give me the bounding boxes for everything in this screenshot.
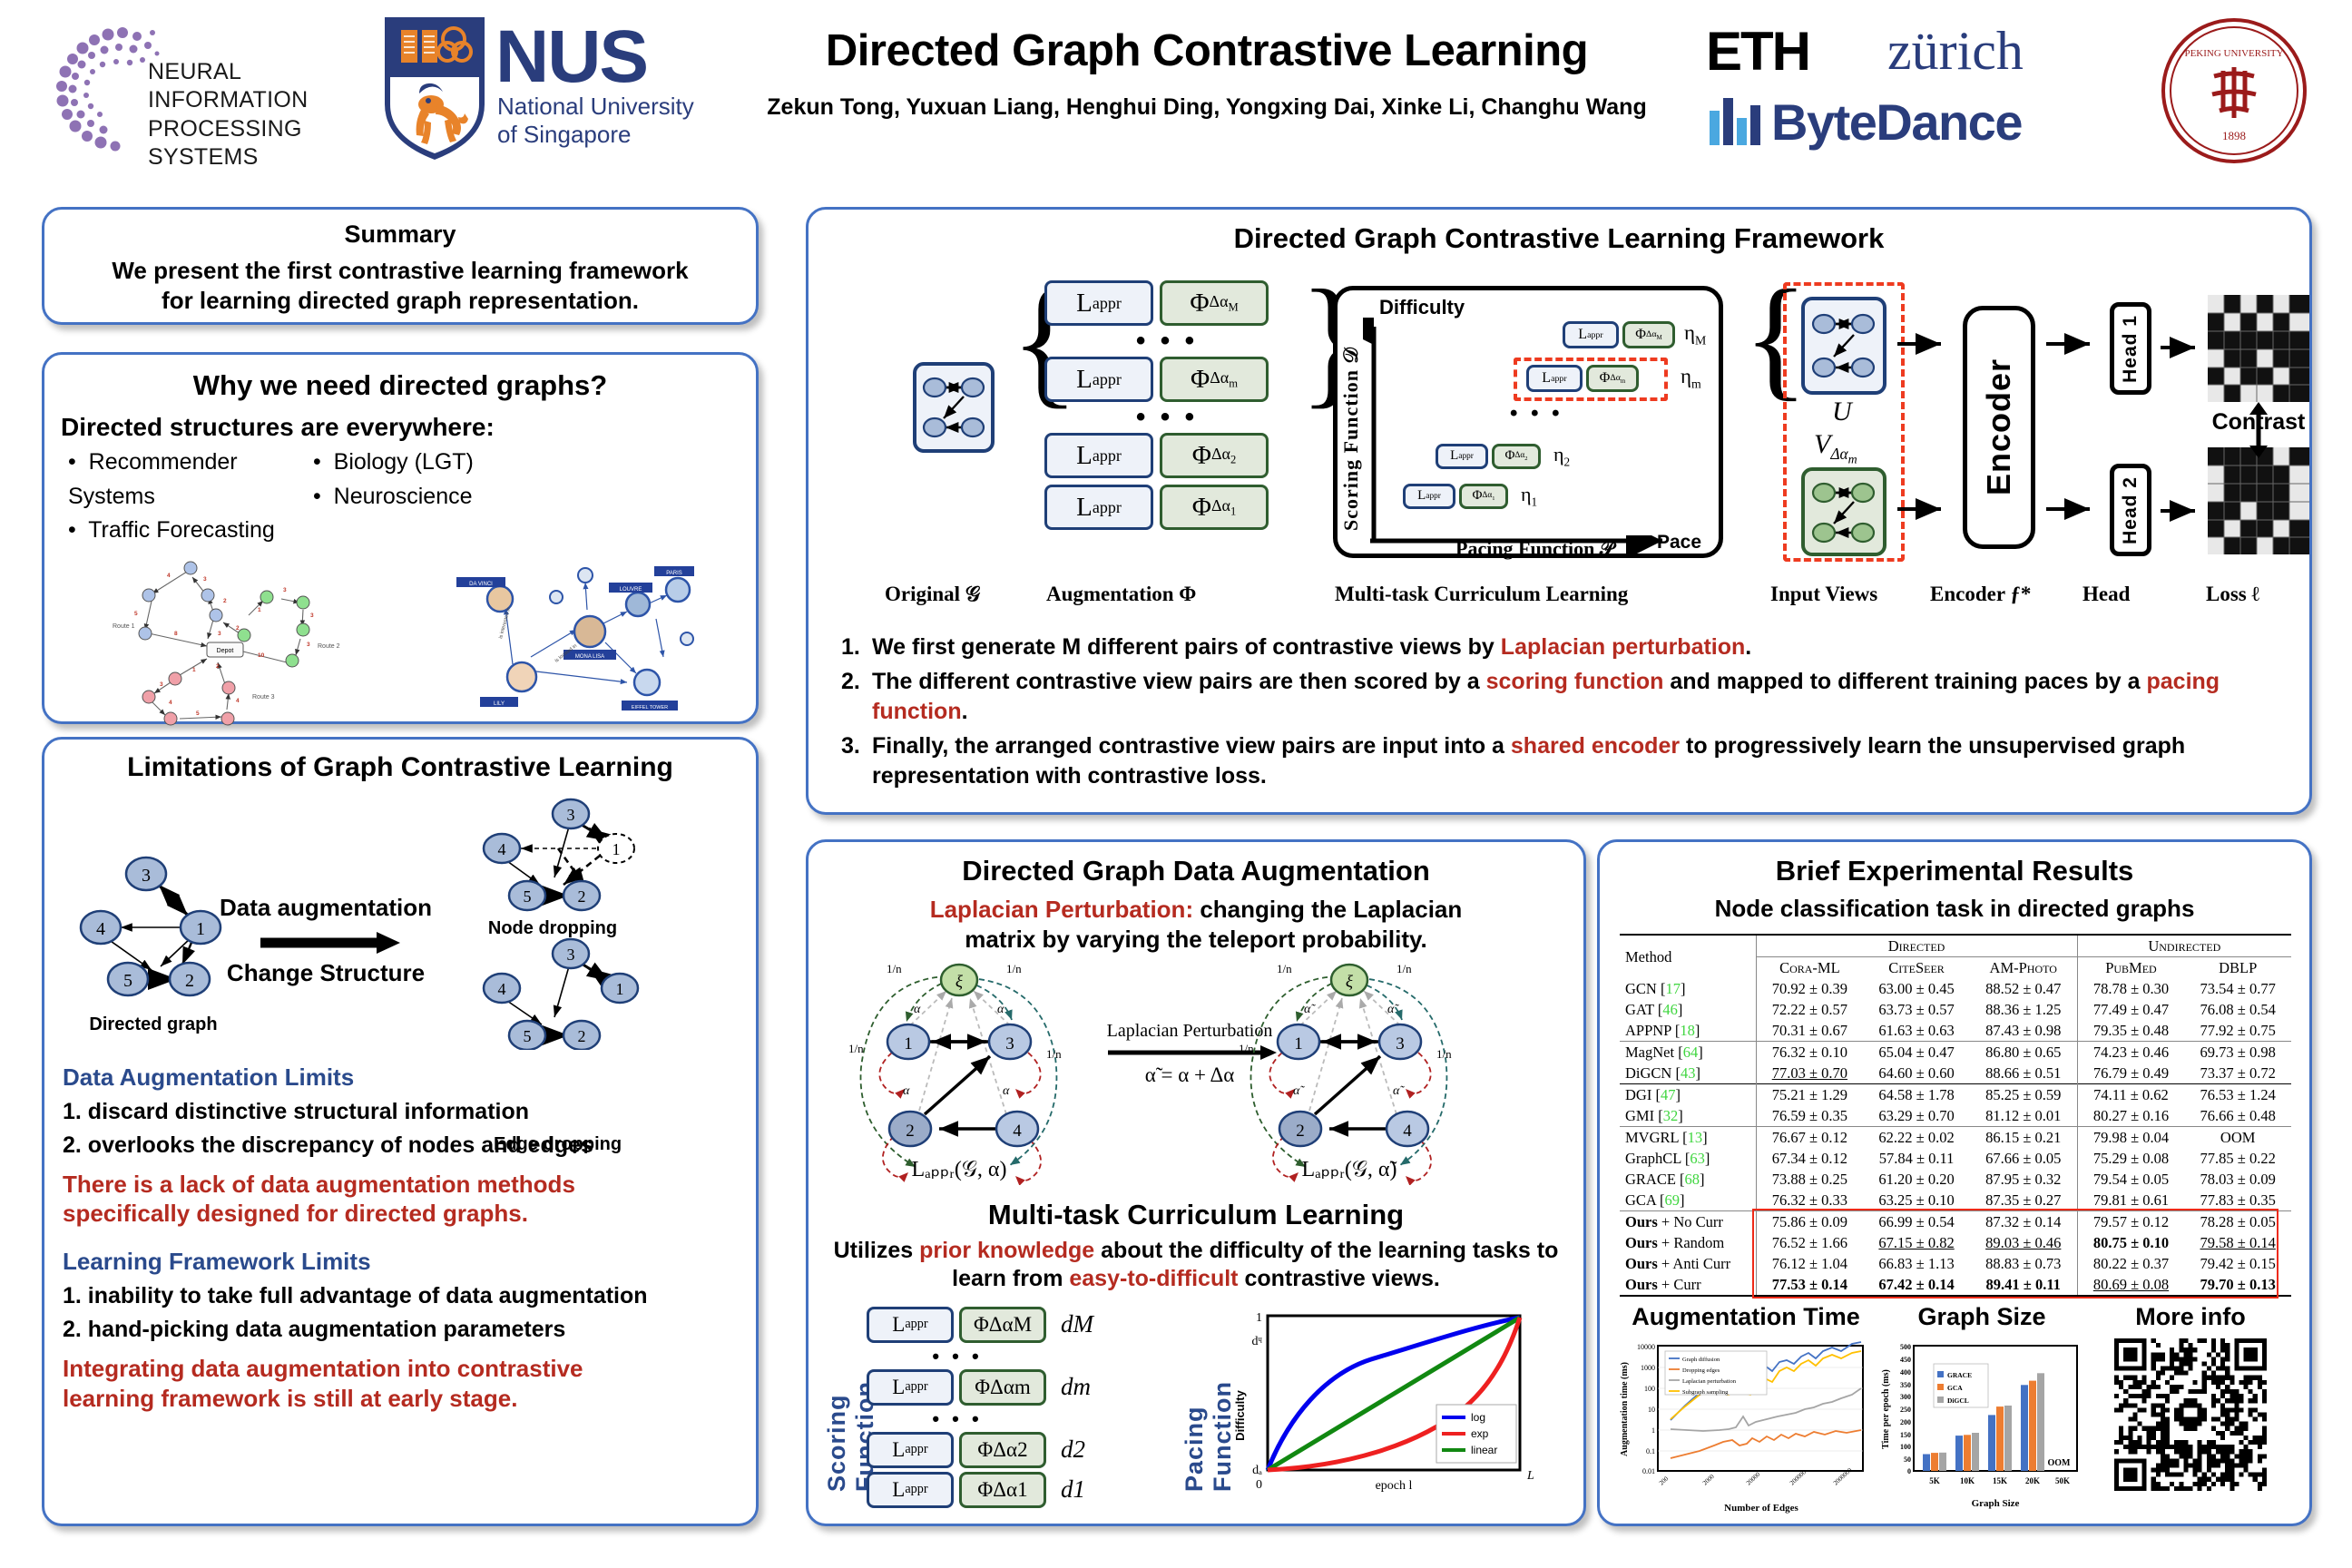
- pacing-ylabel: Difficulty: [1233, 1389, 1247, 1440]
- cell-value: 80.22 ± 0.37: [2077, 1253, 2184, 1274]
- legend-item: Dropping edges: [1682, 1367, 1720, 1374]
- step-number: 1.: [841, 632, 872, 663]
- why-figures: Depot Route 1 Route 2: [44, 555, 756, 757]
- col-header-method: Method: [1620, 935, 1756, 978]
- svg-text:3: 3: [1396, 1034, 1405, 1053]
- laplacian-box: Lappr: [867, 1369, 954, 1406]
- laplacian-box: Lappr: [1403, 484, 1455, 509]
- augmentation-time-chart: 100001000100 1010.1 0.01: [1614, 1338, 1877, 1515]
- svg-text:200: 200: [1900, 1418, 1911, 1426]
- scoring-row: LapprΦΔαmdm: [867, 1369, 1093, 1406]
- phi-box: ΦΔα1: [1459, 484, 1508, 509]
- x-tick: 2000: [1701, 1473, 1716, 1487]
- why-col-left: • Recommender Systems • Traffic Forecast…: [68, 446, 313, 548]
- data-aug-limits-conclusion: There is a lack of data augmentation met…: [63, 1170, 756, 1228]
- svg-text:3: 3: [310, 612, 314, 619]
- cell-value: 73.54 ± 0.77: [2184, 978, 2291, 999]
- list-item: • Biology (LGT): [313, 446, 558, 480]
- step-text: We first generate M different pairs of c…: [872, 632, 1751, 663]
- pku-logo-icon: PEKING UNIVERSITY 1898: [2160, 16, 2309, 166]
- results-table: MethodDirectedUndirectedCora-MLCiteSeerA…: [1620, 934, 2291, 1299]
- laplacian-box: Lappr: [1044, 433, 1153, 478]
- cell-value: 67.15 ± 0.82: [1863, 1232, 1970, 1253]
- table-row: APPNP [18]70.31 ± 0.6761.63 ± 0.6387.43 …: [1620, 1020, 2291, 1042]
- step-number: 2.: [841, 667, 872, 728]
- svg-text:1/n: 1/n: [1046, 1047, 1062, 1061]
- cell-value: 63.25 ± 0.10: [1863, 1190, 1970, 1211]
- x-tick: 50K: [2055, 1476, 2070, 1485]
- svg-text:3: 3: [567, 806, 575, 824]
- panel-limitations: Limitations of Graph Contrastive Learnin…: [42, 737, 759, 1526]
- scoring-row: LapprΦΔα2d2: [867, 1432, 1093, 1468]
- charts-bodies: 100001000100 1010.1 0.01: [1614, 1338, 2300, 1515]
- cell-value: 65.04 ± 0.47: [1863, 1042, 1970, 1063]
- cell-method: GAT [46]: [1620, 999, 1756, 1020]
- panel-framework: Directed Graph Contrastive Learning Fram…: [806, 207, 2312, 815]
- cell-value: 67.66 ± 0.05: [1970, 1148, 2077, 1169]
- col-header: AM-Photo: [1970, 957, 2077, 979]
- cell-value: 64.58 ± 1.78: [1863, 1084, 1970, 1106]
- cell-value: 78.78 ± 0.30: [2077, 978, 2184, 999]
- svg-text:1/n: 1/n: [848, 1042, 864, 1055]
- phi-box: ΦΔαm: [959, 1369, 1046, 1406]
- view-v-graph-icon: [1805, 471, 1883, 554]
- loss-matrix-2: [2208, 447, 2309, 554]
- x-tick: 20000: [1745, 1470, 1762, 1486]
- svg-text:0.1: 0.1: [1646, 1447, 1655, 1455]
- ellipsis: • • •: [1044, 402, 1289, 433]
- svg-text:0.01: 0.01: [1642, 1467, 1655, 1475]
- charts-titles: Augmentation Time Graph Size More info: [1614, 1303, 2300, 1331]
- results-title: Brief Experimental Results: [1600, 855, 2309, 887]
- encoder-label: Encoder: [1980, 358, 2018, 495]
- table-row: GCN [17]70.92 ± 0.3963.00 ± 0.4588.52 ± …: [1620, 978, 2291, 999]
- cell-value: 73.37 ± 0.72: [2184, 1063, 2291, 1084]
- neurips-line1: NEURAL INFORMATION: [148, 58, 349, 115]
- cell-value: 67.42 ± 0.14: [1863, 1274, 1970, 1296]
- table-row: DGI [47]75.21 ± 1.2964.58 ± 1.7885.25 ± …: [1620, 1084, 2291, 1106]
- ellipsis: • • •: [867, 1407, 1048, 1431]
- scoring-function-axis-label: Scoring Function 𝒟: [1339, 347, 1363, 531]
- cell-method: MagNet [64]: [1620, 1042, 1756, 1063]
- phi-box: ΦΔα1: [1160, 485, 1269, 530]
- cell-value: 80.27 ± 0.16: [2077, 1105, 2184, 1127]
- why-col-right: • Biology (LGT) • Neuroscience: [313, 446, 558, 548]
- svg-text:1/n: 1/n: [1006, 962, 1022, 975]
- cell-value: 79.81 ± 0.61: [2077, 1190, 2184, 1211]
- cell-value: 78.03 ± 0.09: [2184, 1169, 2291, 1190]
- difficulty-score: d2: [1061, 1436, 1085, 1464]
- scoring-row: LapprΦΔαMdM: [867, 1307, 1093, 1343]
- framework-step: 1.We first generate M different pairs of…: [841, 632, 2284, 663]
- difficulty-axis-label: Difficulty: [1379, 296, 1465, 319]
- svg-text:3: 3: [1005, 1034, 1014, 1053]
- perturbation-formula: α̃ = α + Δα: [1145, 1063, 1235, 1086]
- cell-value: 87.95 ± 0.32: [1970, 1169, 2077, 1190]
- svg-text:L: L: [1526, 1469, 1534, 1483]
- laplacian-box: Lappr: [867, 1432, 954, 1468]
- cell-value: 87.32 ± 0.14: [1970, 1211, 2077, 1233]
- eta-label: ηM: [1684, 321, 1706, 348]
- author-list: Zekun Tong, Yuxuan Liang, Henghui Ding, …: [717, 94, 1697, 121]
- caption-input-views: Input Views: [1770, 583, 1877, 606]
- why-subtitle: Directed structures are everywhere:: [61, 413, 756, 442]
- step-number: 3.: [841, 731, 872, 792]
- graph-size-ylabel: Time per epoch (ms): [1881, 1369, 1891, 1449]
- eta-label: ηm: [1681, 365, 1701, 392]
- svg-text:2: 2: [578, 887, 586, 906]
- cell-value: 86.15 ± 0.21: [1970, 1127, 2077, 1149]
- nus-wordmark: NUS: [495, 15, 647, 100]
- cell-value: 77.85 ± 0.22: [2184, 1148, 2291, 1169]
- aug-row-1: Lappr ΦΔα1: [1044, 485, 1289, 530]
- bytedance-logo-icon: [1708, 94, 1764, 147]
- svg-text:4: 4: [498, 980, 506, 998]
- mtcl-box: Difficulty Scoring Function 𝒟 Pacing Fun…: [1333, 286, 1723, 558]
- neurips-logo: NEURAL INFORMATION PROCESSING SYSTEMS: [50, 20, 349, 156]
- table-row: GCA [69]76.32 ± 0.3363.25 ± 0.1087.35 ± …: [1620, 1190, 2291, 1211]
- svg-text:500: 500: [1900, 1343, 1911, 1351]
- list-item: • Recommender Systems: [68, 446, 313, 514]
- col-header: PubMed: [2077, 957, 2184, 979]
- cell-value: OOM: [2184, 1127, 2291, 1149]
- cell-value: 70.92 ± 0.39: [1756, 978, 1863, 999]
- svg-text:1: 1: [258, 607, 261, 613]
- aug-row-m: Lappr ΦΔαm: [1044, 357, 1289, 402]
- table-row: Ours + No Curr75.86 ± 0.0966.99 ± 0.5487…: [1620, 1211, 2291, 1233]
- scoring-row: LapprΦΔα1d1: [867, 1472, 1093, 1508]
- legend-item: Subgraph sampling: [1682, 1389, 1729, 1396]
- nus-sub-line2: of Singapore: [497, 121, 694, 149]
- cell-value: 77.83 ± 0.35: [2184, 1190, 2291, 1211]
- table-row: MVGRL [13]76.67 ± 0.1262.22 ± 0.0286.15 …: [1620, 1127, 2291, 1149]
- phi-box: ΦΔαm: [1586, 365, 1639, 392]
- pace-axis-label: Pace: [1657, 532, 1701, 554]
- cell-value: 88.52 ± 0.47: [1970, 978, 2077, 999]
- x-tick: 10K: [1960, 1476, 1975, 1485]
- why-title: Why we need directed graphs?: [44, 369, 756, 402]
- table-row: MagNet [64]76.32 ± 0.1065.04 ± 0.4786.80…: [1620, 1042, 2291, 1063]
- caption-original: Original 𝒢: [885, 583, 980, 606]
- panel-summary: Summary We present the first contrastive…: [42, 207, 759, 325]
- results-charts: Augmentation Time Graph Size More info 1…: [1614, 1303, 2300, 1521]
- summary-title: Summary: [44, 220, 756, 249]
- cell-value: 63.29 ± 0.70: [1863, 1105, 1970, 1127]
- cell-value: 74.11 ± 0.62: [2077, 1084, 2184, 1106]
- pacing-xlabel: epoch l: [1376, 1479, 1413, 1493]
- x-tick: 20K: [2025, 1476, 2040, 1485]
- svg-text:10: 10: [258, 652, 265, 659]
- svg-text:4: 4: [236, 698, 240, 704]
- perturbation-arrow-label: Laplacian Perturbation: [1107, 1021, 1273, 1041]
- svg-text:exp: exp: [1471, 1427, 1489, 1440]
- svg-text:1: 1: [612, 840, 621, 858]
- svg-text:1: 1: [196, 919, 205, 939]
- cell-value: 76.66 ± 0.48: [2184, 1105, 2291, 1127]
- legend-item: GCA: [1947, 1384, 1963, 1392]
- cell-value: 79.58 ± 0.14: [2184, 1232, 2291, 1253]
- highlight-term: shared encoder: [1511, 733, 1680, 759]
- svg-text:3: 3: [218, 631, 221, 637]
- group-header: Undirected: [2077, 935, 2291, 957]
- laplacian-box: Lappr: [867, 1472, 954, 1508]
- phi-box: ΦΔα2: [1160, 433, 1269, 478]
- cell-value: 88.83 ± 0.73: [1970, 1253, 2077, 1274]
- cell-value: 89.03 ± 0.46: [1970, 1232, 2077, 1253]
- svg-text:α: α: [914, 1003, 921, 1016]
- cell-value: 80.69 ± 0.08: [2077, 1274, 2184, 1296]
- cell-value: 79.35 ± 0.48: [2077, 1020, 2184, 1042]
- table-row: Ours + Random76.52 ± 1.6667.15 ± 0.8289.…: [1620, 1232, 2291, 1253]
- node-dropping-caption: Node dropping: [488, 918, 617, 938]
- cell-value: 64.60 ± 0.60: [1863, 1063, 1970, 1084]
- qr-code-wrap[interactable]: [2086, 1338, 2295, 1515]
- svg-text:dₐ: dₐ: [1252, 1464, 1262, 1477]
- scoring-pacing-row: Scoring Function LapprΦΔαMdM• • •LapprΦΔ…: [808, 1303, 1583, 1498]
- graph-size-xlabel: Graph Size: [1972, 1498, 2020, 1509]
- cell-method: GraphCL [63]: [1620, 1148, 1756, 1169]
- oom-annotation: OOM: [2048, 1458, 2072, 1468]
- cell-value: 76.08 ± 0.54: [2184, 999, 2291, 1020]
- pacing-function-axis-label: Pacing Function 𝒫: [1455, 537, 1614, 561]
- summary-line2: for learning directed graph representati…: [44, 286, 756, 316]
- chart-title-graph-size: Graph Size: [1877, 1303, 2086, 1331]
- cell-value: 77.49 ± 0.47: [2077, 999, 2184, 1020]
- kg-node-label: LOUVRE: [619, 587, 642, 593]
- table-row: Ours + Curr77.53 ± 0.1467.42 ± 0.1489.41…: [1620, 1274, 2291, 1296]
- laplacian-box: Lappr: [1044, 357, 1153, 402]
- chart-title-augmentation-time: Augmentation Time: [1614, 1303, 1877, 1331]
- ellipsis: • • •: [1044, 326, 1289, 357]
- cell-value: 79.98 ± 0.04: [2077, 1127, 2184, 1149]
- cell-method: Ours + No Curr: [1620, 1211, 1756, 1233]
- difficulty-score: dM: [1061, 1310, 1093, 1338]
- view-u-graph-icon: [1805, 300, 1883, 391]
- cell-method: GCN [17]: [1620, 978, 1756, 999]
- cell-value: 72.22 ± 0.57: [1756, 999, 1863, 1020]
- cell-value: 76.67 ± 0.12: [1756, 1127, 1863, 1149]
- svg-text:4: 4: [169, 700, 172, 706]
- col-header: DBLP: [2184, 957, 2291, 979]
- xi-node: ξ: [955, 973, 964, 992]
- head-1-box: Head 1: [2110, 302, 2151, 395]
- limitations-diagram: 3 1 4 5 2 Directed graph Data augmentati…: [44, 787, 743, 1050]
- phi-box: ΦΔα2: [959, 1432, 1046, 1468]
- step-text: Finally, the arranged contrastive view p…: [872, 731, 2284, 792]
- svg-text:50: 50: [1904, 1455, 1911, 1464]
- head-2-box: Head 2: [2110, 464, 2151, 556]
- highlight-term: easy-to-difficult: [1069, 1266, 1238, 1291]
- svg-text:3: 3: [203, 576, 207, 583]
- cell-value: 78.28 ± 0.05: [2184, 1211, 2291, 1233]
- laplacian-box: Lappr: [1436, 444, 1488, 469]
- view-u-box: [1801, 297, 1886, 395]
- cell-value: 79.42 ± 0.15: [2184, 1253, 2291, 1274]
- eth-bytedance-logo: ETH zürich ByteDance: [1706, 20, 2123, 165]
- cell-value: 77.53 ± 0.14: [1756, 1274, 1863, 1296]
- cell-value: 76.32 ± 0.10: [1756, 1042, 1863, 1063]
- cell-value: 88.66 ± 0.51: [1970, 1063, 2077, 1084]
- svg-text:2: 2: [578, 1027, 586, 1045]
- svg-text:250: 250: [1900, 1406, 1911, 1414]
- cell-value: 76.12 ± 1.04: [1756, 1253, 1863, 1274]
- list-item: 1. inability to take full advantage of d…: [63, 1283, 756, 1309]
- x-tick: 200: [1658, 1475, 1671, 1486]
- summary-body: We present the first contrastive learnin…: [44, 256, 756, 317]
- phi-box: ΦΔαM: [1622, 321, 1675, 348]
- scoring-rows: LapprΦΔαMdM• • •LapprΦΔαmdm• • •LapprΦΔα…: [867, 1307, 1093, 1510]
- svg-text:4: 4: [96, 919, 105, 939]
- cell-value: 66.99 ± 0.54: [1863, 1211, 1970, 1233]
- svg-text:350: 350: [1900, 1381, 1911, 1389]
- aug-row-M: Lappr ΦΔαM: [1044, 280, 1289, 326]
- mtcl-row-1: Lappr ΦΔα1 η1: [1403, 483, 1537, 509]
- augmentation-lead: Laplacian Perturbation: changing the Lap…: [808, 895, 1583, 955]
- laplacian-box: Lappr: [1044, 485, 1153, 530]
- group-header: Directed: [1756, 935, 2077, 957]
- cell-value: 66.83 ± 1.13: [1863, 1253, 1970, 1274]
- svg-text:1: 1: [904, 1034, 913, 1053]
- list-item: • Traffic Forecasting: [68, 514, 313, 548]
- left-caption: Lₐₚₚᵣ(𝒢, α): [912, 1158, 1007, 1181]
- cell-value: 69.73 ± 0.98: [2184, 1042, 2291, 1063]
- arrows-to-encoder: [1894, 324, 1957, 542]
- eth-wordmark: ETH: [1706, 20, 1809, 83]
- eth-zurich-text: zürich: [1887, 20, 2024, 83]
- svg-text:α: α: [1003, 1084, 1010, 1098]
- page-title: Directed Graph Contrastive Learning: [717, 25, 1697, 76]
- phi-box: ΦΔαM: [1160, 280, 1269, 326]
- qr-code-icon[interactable]: [2114, 1338, 2267, 1491]
- arrow-label-top: Data augmentation: [220, 894, 432, 921]
- nus-shield-icon: [381, 14, 488, 163]
- svg-text:100: 100: [1644, 1385, 1655, 1393]
- summary-line1: We present the first contrastive learnin…: [44, 256, 756, 286]
- laplacian-box: Lappr: [1526, 365, 1583, 392]
- svg-text:5: 5: [524, 1027, 532, 1045]
- aug-time-xlabel: Number of Edges: [1724, 1503, 1798, 1514]
- arrow-label-bottom: Change Structure: [227, 959, 425, 986]
- svg-text:1: 1: [616, 980, 624, 998]
- kg-node-label: LILY: [494, 701, 505, 707]
- caption-mtcl: Multi-task Curriculum Learning: [1335, 583, 1628, 606]
- cell-method: Ours + Anti Curr: [1620, 1253, 1756, 1274]
- svg-text:linear: linear: [1471, 1444, 1497, 1456]
- view-v-box: [1801, 467, 1886, 556]
- panel-results: Brief Experimental Results Node classifi…: [1597, 839, 2312, 1526]
- svg-text:0: 0: [1256, 1478, 1262, 1492]
- svg-text:300: 300: [1900, 1393, 1911, 1401]
- title-block: Directed Graph Contrastive Learning Zeku…: [717, 25, 1697, 121]
- highlight-term: prior knowledge: [919, 1238, 1094, 1263]
- cell-method: DiGCN [43]: [1620, 1063, 1756, 1084]
- cell-method: GCA [69]: [1620, 1190, 1756, 1211]
- svg-text:2: 2: [223, 598, 227, 604]
- svg-text:4: 4: [1403, 1122, 1412, 1141]
- cell-value: 76.53 ± 1.24: [2184, 1084, 2291, 1106]
- svg-text:α̃: α̃: [1393, 1084, 1405, 1098]
- svg-text:5: 5: [196, 710, 200, 717]
- cell-value: 81.12 ± 0.01: [1970, 1105, 2077, 1127]
- highlight-term: Laplacian perturbation: [1501, 634, 1745, 660]
- svg-text:400: 400: [1900, 1368, 1911, 1377]
- legend-item: Laplacian perturbation: [1682, 1378, 1737, 1385]
- limitations-title: Limitations of Graph Contrastive Learnin…: [44, 752, 756, 783]
- aug-time-ylabel: Augmentation time (ms): [1620, 1362, 1630, 1456]
- highlight-term: scoring function: [1486, 669, 1664, 694]
- svg-text:2: 2: [1296, 1122, 1305, 1141]
- svg-text:2: 2: [236, 625, 240, 632]
- loss-matrix-1: [2208, 295, 2309, 402]
- graph-size-chart: 500450400 350300250 200150100 500: [1877, 1338, 2086, 1515]
- route-2-label: Route 2: [318, 643, 340, 650]
- results-table-wrap: MethodDirectedUndirectedCora-MLCiteSeerA…: [1620, 934, 2297, 1299]
- cell-value: 87.43 ± 0.98: [1970, 1020, 2077, 1042]
- caption-encoder: Encoder ƒ*: [1930, 583, 2031, 606]
- road-network-diagram: Depot Route 1 Route 2: [80, 555, 379, 728]
- x-tick: 5K: [1929, 1476, 1940, 1485]
- svg-text:2: 2: [185, 971, 194, 991]
- cell-value: 77.03 ± 0.70: [1756, 1063, 1863, 1084]
- cell-method: Ours + Curr: [1620, 1274, 1756, 1296]
- mtcl-row-2: Lappr ΦΔα2 η2: [1436, 443, 1570, 469]
- kg-node-label: PARIS: [666, 571, 682, 576]
- depot-label: Depot: [216, 648, 233, 654]
- pku-year: 1898: [2222, 129, 2246, 142]
- mtcl-title: Multi-task Curriculum Learning: [808, 1199, 1583, 1231]
- cell-value: 62.22 ± 0.02: [1863, 1127, 1970, 1149]
- cell-value: 73.88 ± 0.25: [1756, 1169, 1863, 1190]
- cell-method: MVGRL [13]: [1620, 1127, 1756, 1149]
- svg-text:1/n: 1/n: [1436, 1047, 1452, 1061]
- encoder-box: Encoder: [1963, 306, 2035, 549]
- framework-step: 3.Finally, the arranged contrastive view…: [841, 731, 2284, 792]
- legend-item: Graph diffusion: [1682, 1357, 1720, 1363]
- svg-text:10: 10: [1648, 1406, 1655, 1414]
- svg-text:3: 3: [160, 681, 163, 688]
- svg-text:1000: 1000: [1641, 1364, 1655, 1372]
- cell-value: 87.35 ± 0.27: [1970, 1190, 2077, 1211]
- cell-value: 74.23 ± 0.46: [2077, 1042, 2184, 1063]
- original-graph-icon: [916, 366, 991, 449]
- svg-text:2: 2: [906, 1122, 915, 1141]
- route-3-label: Route 3: [252, 694, 275, 701]
- route-1-label: Route 1: [113, 623, 135, 630]
- svg-text:α̃: α̃: [1304, 1003, 1316, 1016]
- augmentation-title: Directed Graph Data Augmentation: [808, 855, 1583, 887]
- mtcl-row-M: Lappr ΦΔαM ηM: [1563, 321, 1706, 348]
- nus-logo: NUS National University of Singapore: [381, 9, 699, 168]
- cell-value: 80.75 ± 0.10: [2077, 1232, 2184, 1253]
- edge-dropping-caption: Edge dropping: [494, 1134, 622, 1155]
- head-1-label: Head 1: [2120, 315, 2141, 383]
- table-row: GraphCL [63]67.34 ± 0.1257.84 ± 0.1167.6…: [1620, 1148, 2291, 1169]
- svg-text:α: α: [997, 1003, 1004, 1016]
- cell-value: 79.57 ± 0.12: [2077, 1211, 2184, 1233]
- neurips-wordmark: NEURAL INFORMATION PROCESSING SYSTEMS: [148, 58, 349, 171]
- phi-box: ΦΔαm: [1160, 357, 1269, 402]
- ellipsis: • • •: [1510, 401, 1563, 426]
- svg-text:150: 150: [1900, 1431, 1911, 1439]
- framework-step: 2.The different contrastive view pairs a…: [841, 667, 2284, 728]
- results-subtitle: Node classification task in directed gra…: [1600, 895, 2309, 923]
- svg-text:3: 3: [142, 866, 151, 886]
- panel-augmentation: Directed Graph Data Augmentation Laplaci…: [806, 839, 1586, 1526]
- road-network-figure: Depot Route 1 Route 2: [80, 555, 379, 757]
- cell-value: 77.92 ± 0.75: [2184, 1020, 2291, 1042]
- svg-text:PEKING UNIVERSITY: PEKING UNIVERSITY: [2184, 48, 2283, 59]
- kg-node-label: MONA LISA: [574, 654, 603, 660]
